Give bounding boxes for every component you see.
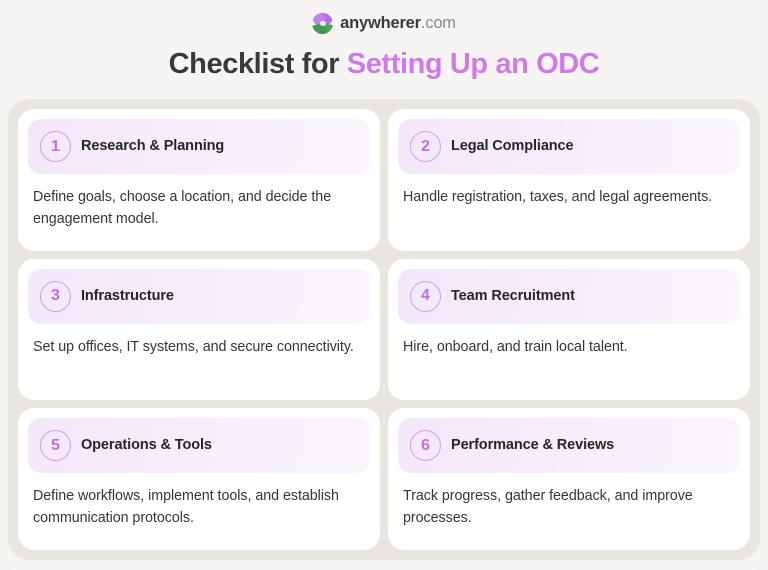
checklist-page: anywherer.com Checklist for Setting Up a… — [0, 0, 768, 570]
card-title-3: Infrastructure — [81, 288, 174, 305]
card-body-2: Handle registration, taxes, and legal ag… — [398, 174, 740, 208]
checklist-container: 1 Research & Planning Define goals, choo… — [8, 99, 760, 560]
globe-icon — [312, 13, 333, 34]
card-title-2: Legal Compliance — [451, 138, 574, 155]
page-title: Checklist for Setting Up an ODC — [0, 48, 768, 81]
checklist-card-4[interactable]: 4 Team Recruitment Hire, onboard, and tr… — [388, 259, 750, 401]
brand-name-main: anywherer — [340, 15, 421, 32]
step-number-badge-5: 5 — [40, 430, 71, 461]
card-header-1: 1 Research & Planning — [28, 119, 370, 174]
checklist-card-2[interactable]: 2 Legal Compliance Handle registration, … — [388, 109, 750, 251]
card-body-1: Define goals, choose a location, and dec… — [28, 174, 370, 229]
card-header-4: 4 Team Recruitment — [398, 269, 740, 324]
card-body-4: Hire, onboard, and train local talent. — [398, 324, 740, 358]
step-number-badge-3: 3 — [40, 281, 71, 312]
card-title-5: Operations & Tools — [81, 437, 212, 454]
checklist-card-3[interactable]: 3 Infrastructure Set up offices, IT syst… — [18, 259, 380, 401]
step-number-badge-6: 6 — [410, 430, 441, 461]
card-body-5: Define workflows, implement tools, and e… — [28, 473, 370, 528]
checklist-grid: 1 Research & Planning Define goals, choo… — [18, 109, 750, 550]
checklist-card-1[interactable]: 1 Research & Planning Define goals, choo… — [18, 109, 380, 251]
card-title-1: Research & Planning — [81, 138, 224, 155]
card-header-3: 3 Infrastructure — [28, 269, 370, 324]
checklist-card-6[interactable]: 6 Performance & Reviews Track progress, … — [388, 408, 750, 550]
card-header-6: 6 Performance & Reviews — [398, 418, 740, 473]
card-header-2: 2 Legal Compliance — [398, 119, 740, 174]
step-number-badge-1: 1 — [40, 131, 71, 162]
card-title-4: Team Recruitment — [451, 288, 575, 305]
checklist-card-5[interactable]: 5 Operations & Tools Define workflows, i… — [18, 408, 380, 550]
page-title-lead: Checklist for — [169, 48, 347, 80]
card-header-5: 5 Operations & Tools — [28, 418, 370, 473]
brand-header: anywherer.com — [0, 0, 768, 34]
step-number-badge-2: 2 — [410, 131, 441, 162]
brand-name-tld: .com — [421, 15, 456, 32]
brand-name: anywherer.com — [340, 15, 456, 32]
card-title-6: Performance & Reviews — [451, 437, 614, 454]
card-body-3: Set up offices, IT systems, and secure c… — [28, 324, 370, 358]
page-title-accent: Setting Up an ODC — [347, 48, 600, 80]
step-number-badge-4: 4 — [410, 281, 441, 312]
card-body-6: Track progress, gather feedback, and imp… — [398, 473, 740, 528]
